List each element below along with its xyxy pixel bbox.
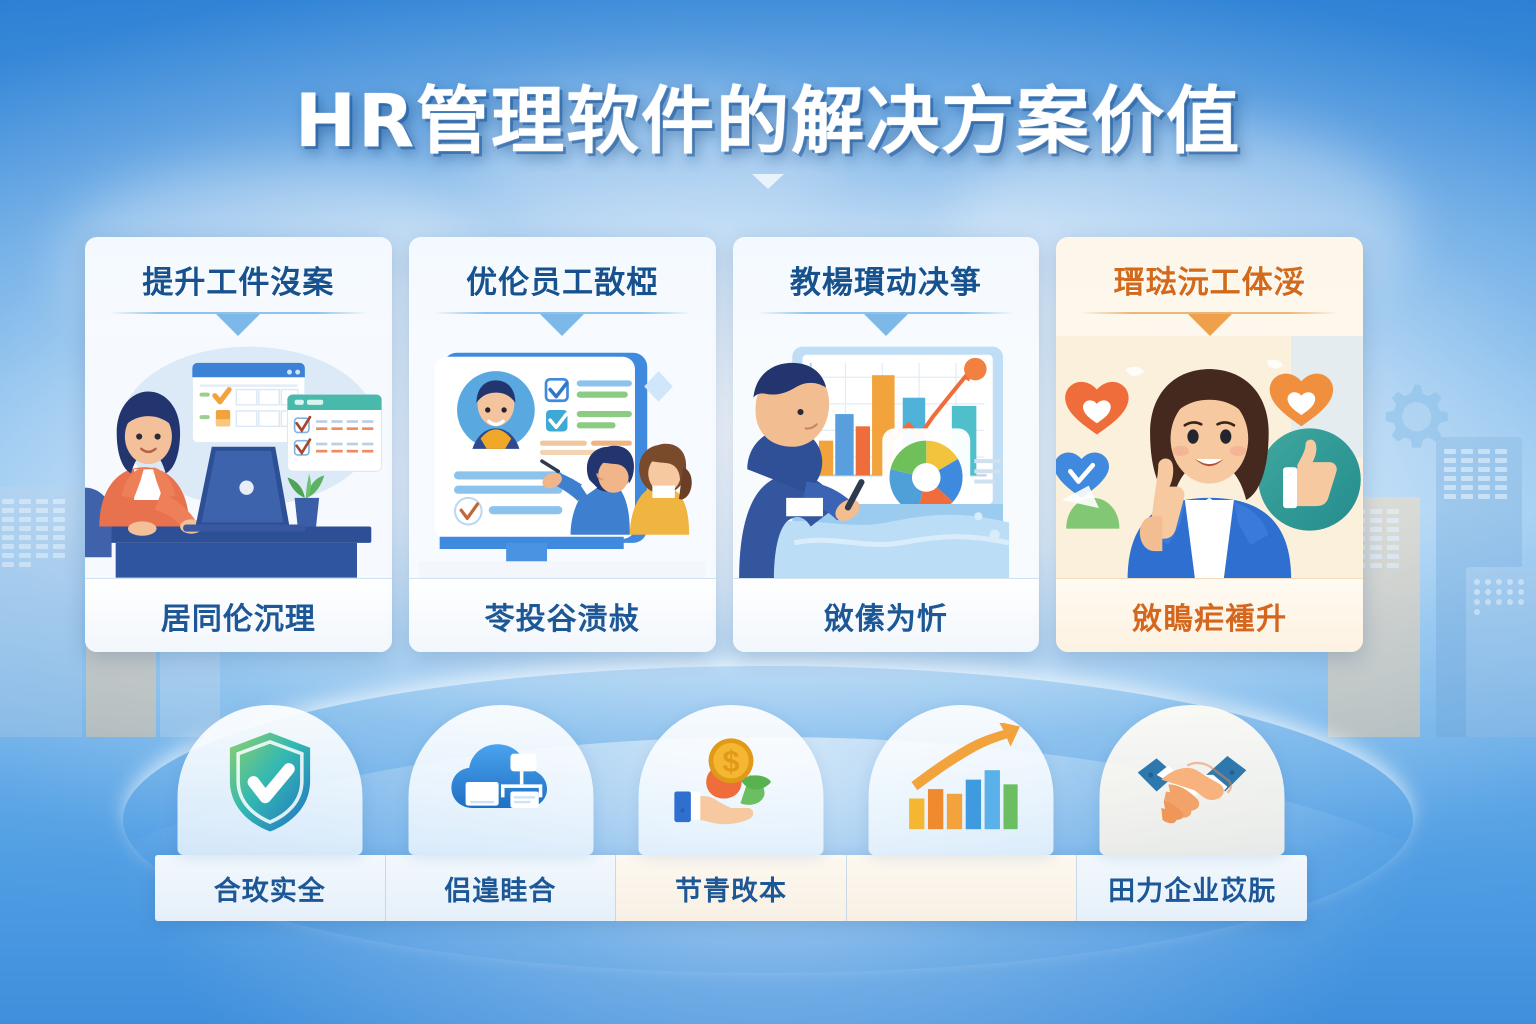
feature-label-text: 节青攺本: [675, 869, 787, 908]
value-card-2[interactable]: 优伦员工敔椏: [409, 237, 716, 652]
value-card-row: 提升工件沒案: [85, 237, 1363, 652]
building-windows: [1474, 579, 1532, 615]
card-caret-icon: [216, 314, 260, 336]
feature-3-cost[interactable]: $: [616, 700, 846, 855]
card-caret-icon: [1188, 314, 1232, 336]
page-title: HR管理软件的解决方案价值: [295, 62, 1241, 168]
card-caption: 敓傃为忻: [733, 578, 1040, 652]
card-title: 瑨琺沅工体浽: [1066, 257, 1353, 302]
card-header: 教楊瑻动决箏: [733, 237, 1040, 314]
growth-chart-arrow-icon: [896, 723, 1026, 841]
title-caret-icon: [752, 174, 784, 189]
feature-label-5[interactable]: 田力企业苡朊: [1077, 855, 1307, 921]
card-caption-text: 敓瞗疟褈升: [1132, 594, 1287, 638]
page-title-block: HR管理软件的解决方案价值: [0, 62, 1536, 189]
feature-icon-row: $: [155, 700, 1307, 855]
hand-coin-icon: $: [666, 723, 796, 841]
handshake-icon: [1127, 723, 1257, 841]
feature-strip: $: [155, 700, 1307, 921]
card-caption: 敓瞗疟褈升: [1056, 578, 1363, 652]
card-caption-text: 苓投谷渍敊: [485, 594, 640, 638]
card-underline: [433, 312, 692, 314]
value-card-3[interactable]: 教楊瑻动决箏: [733, 237, 1040, 652]
card-header: 提升工件沒案: [85, 237, 392, 314]
feature-label-text: 合玫实全: [214, 869, 326, 908]
card-header: 瑨琺沅工体浽: [1056, 237, 1363, 314]
card-caption: 苓投谷渍敊: [409, 578, 716, 652]
card-title: 优伦员工敔椏: [419, 257, 706, 302]
value-card-1[interactable]: 提升工件沒案: [85, 237, 392, 652]
feature-label-2[interactable]: 侣遑眭合: [386, 855, 617, 921]
feature-2-cloud[interactable]: [385, 700, 615, 855]
card-illustration-employee-profile: [409, 336, 716, 578]
feature-label-1[interactable]: 合玫实全: [155, 855, 386, 921]
svg-text:$: $: [722, 744, 739, 778]
card-caret-icon: [864, 314, 908, 336]
card-underline: [757, 312, 1016, 314]
feature-label-text: 侣遑眭合: [444, 869, 556, 908]
feature-label-4[interactable]: [847, 855, 1078, 921]
feature-5-handshake[interactable]: [1077, 700, 1307, 855]
feature-label-bar: 合玫实全 侣遑眭合 节青攺本 田力企业苡朊: [155, 855, 1307, 921]
card-title: 教楊瑻动决箏: [743, 257, 1030, 302]
feature-4-growth[interactable]: [846, 700, 1076, 855]
feature-label-3[interactable]: 节青攺本: [616, 855, 847, 921]
card-caption-text: 居同伦沉理: [161, 594, 316, 638]
value-card-4[interactable]: 瑨琺沅工体浽: [1056, 237, 1363, 652]
building: [0, 487, 82, 737]
card-caption: 居同伦沉理: [85, 578, 392, 652]
cloud-integration-icon: [436, 723, 566, 841]
card-illustration-employee-experience: [1056, 336, 1363, 578]
building: [1466, 567, 1536, 737]
shield-check-icon: [205, 723, 335, 841]
card-header: 优伦员工敔椏: [409, 237, 716, 314]
card-caret-icon: [540, 314, 584, 336]
card-underline: [1080, 312, 1339, 314]
card-illustration-data-dashboard: [733, 336, 1040, 578]
card-caption-text: 敓傃为忻: [824, 594, 948, 638]
building-windows: [2, 499, 74, 567]
card-illustration-woman-at-desk: [85, 336, 392, 578]
card-title: 提升工件沒案: [95, 257, 382, 302]
card-underline: [109, 312, 368, 314]
feature-label-text: 田力企业苡朊: [1108, 869, 1276, 908]
feature-1-shield[interactable]: [155, 700, 385, 855]
gear-icon: [1372, 372, 1458, 458]
